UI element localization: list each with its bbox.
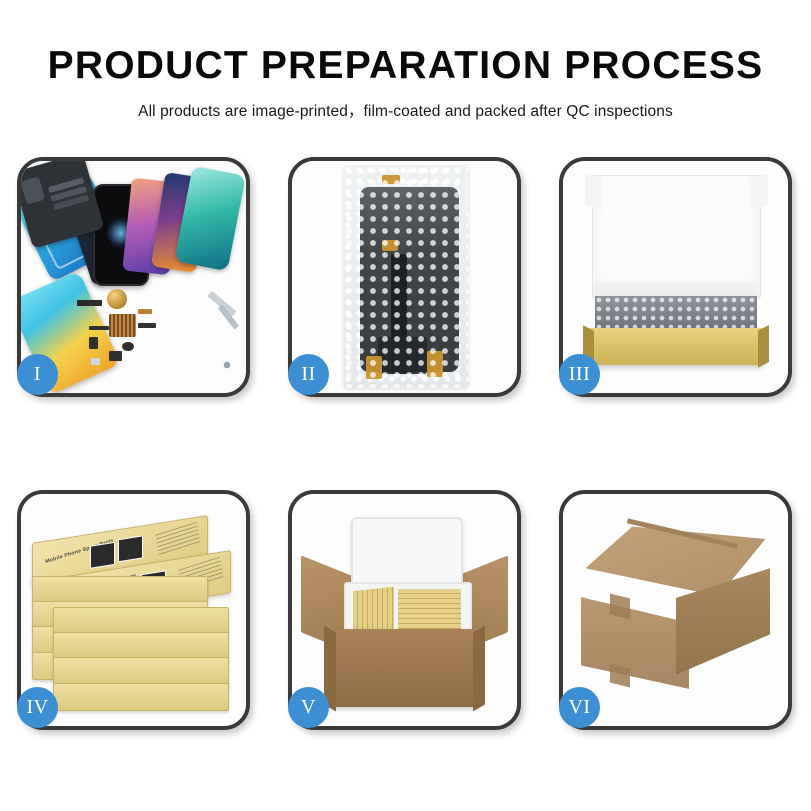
- box-spec-text-1: [155, 522, 200, 557]
- step-badge-1: I: [17, 354, 58, 395]
- page-subtitle: All products are image-printed，film-coat…: [0, 99, 811, 121]
- step-badge-6: VI: [559, 687, 600, 728]
- camera-module-part: [109, 351, 123, 360]
- flex-cable-part-1: [89, 326, 109, 331]
- screws-group: [219, 358, 235, 372]
- step-panel-3: III: [559, 157, 792, 397]
- tape-piece-4: [427, 351, 443, 377]
- contact-pad-part: [109, 314, 136, 337]
- step-image-6: [563, 494, 788, 726]
- stacked-box-5: [53, 607, 229, 635]
- box-window-1b: [119, 535, 144, 562]
- step-panel-6: VI: [559, 490, 792, 730]
- box-window-1a: [91, 541, 116, 568]
- screen-connector-block: [378, 337, 428, 374]
- header: PRODUCT PREPARATION PROCESS All products…: [0, 0, 811, 121]
- page-title: PRODUCT PREPARATION PROCESS: [0, 46, 811, 85]
- step-image-1: [21, 161, 246, 393]
- step-badge-5: V: [288, 687, 329, 728]
- gold-boxes-group-right: [398, 589, 461, 633]
- step-image-5: [292, 494, 517, 726]
- speaker-part: [122, 342, 133, 351]
- small-chip-part: [91, 358, 100, 365]
- step-image-4: Mobile Phone Spare Parts Mobile Phone Sp…: [21, 494, 246, 726]
- step-panel-5: V: [288, 490, 521, 730]
- step-image-2: [292, 161, 517, 393]
- step-badge-3: III: [559, 354, 600, 395]
- gold-box-base: [588, 328, 764, 365]
- white-box-lid: [592, 175, 761, 298]
- stacked-box-6: [53, 632, 229, 660]
- step-panel-1: I: [17, 157, 250, 397]
- gold-coil-part: [107, 289, 127, 310]
- tape-piece-1: [382, 175, 400, 184]
- step-badge-4: IV: [17, 687, 58, 728]
- step-panel-4: Mobile Phone Spare Parts Mobile Phone Sp…: [17, 490, 250, 730]
- step-panel-2: II: [288, 157, 521, 397]
- gold-boxes-group-left: [353, 587, 394, 633]
- gold-connector-part: [138, 309, 152, 314]
- connector-strip-part: [77, 300, 102, 306]
- stacked-box-8: [53, 683, 229, 711]
- tape-piece-3: [366, 356, 382, 379]
- step-badge-2: II: [288, 354, 329, 395]
- carton-front-face: [581, 582, 689, 689]
- stacked-box-7: [53, 657, 229, 685]
- flex-cable-part-2: [89, 337, 98, 349]
- step-image-3: [563, 161, 788, 393]
- flex-cable-part-3: [138, 323, 156, 328]
- foam-lid: [351, 517, 463, 591]
- product-preparation-infographic: PRODUCT PREPARATION PROCESS All products…: [0, 0, 811, 811]
- open-carton-body: [330, 629, 479, 708]
- stacked-box-1: [32, 576, 208, 604]
- bubble-wrapped-contents: [595, 296, 757, 331]
- tape-piece-2: [382, 240, 398, 252]
- box-stack: Mobile Phone Spare Parts Mobile Phone Sp…: [32, 517, 235, 712]
- process-steps-grid: I II III: [17, 157, 794, 730]
